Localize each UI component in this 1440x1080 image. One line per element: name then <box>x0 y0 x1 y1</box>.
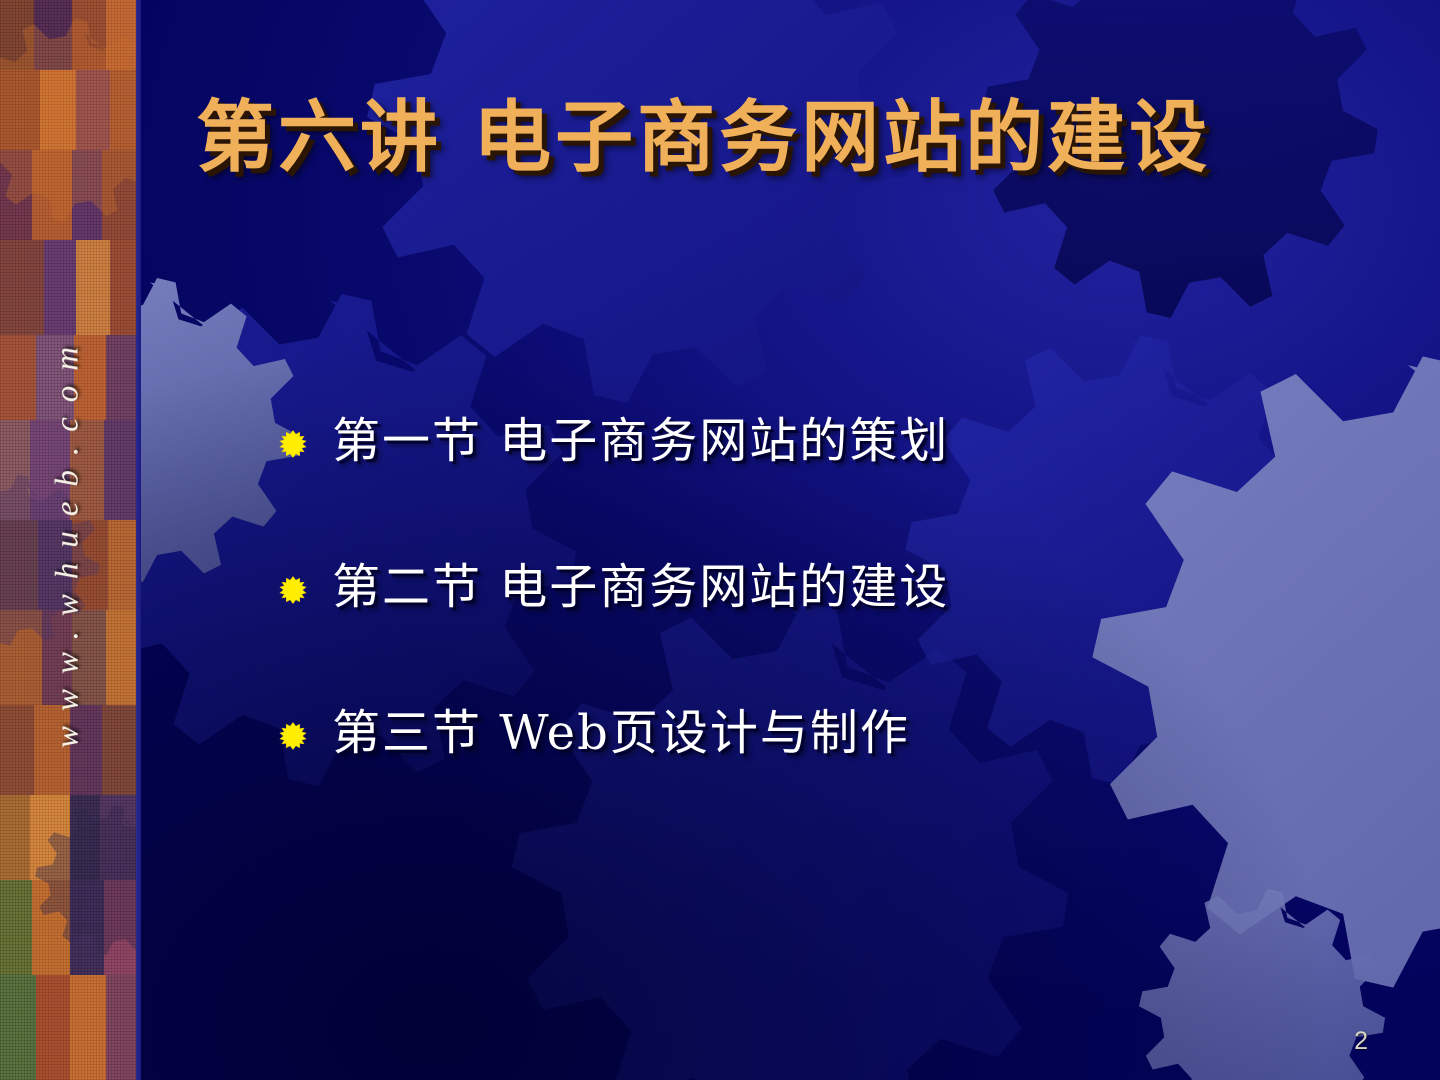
sunburst-star-icon <box>278 721 308 751</box>
list-item-label: 第二节 电子商务网站的建设 <box>332 563 949 611</box>
mosaic-grain-overlay <box>0 0 136 1080</box>
bullet-list: 第一节 电子商务网站的策划 第二节 电子商务网站的建设 第三节 Web页设计与制… <box>278 398 1368 776</box>
left-texture-strip: www.whueb.com <box>0 0 136 1080</box>
sunburst-star-icon <box>278 429 308 459</box>
page-number: 2 <box>1354 1027 1368 1056</box>
list-item-label: 第三节 Web页设计与制作 <box>332 709 910 757</box>
presentation-slide: www.whueb.com 第六讲 电子商务网站的建设 第一节 电子商务网站的策… <box>0 0 1440 1080</box>
list-item[interactable]: 第二节 电子商务网站的建设 <box>278 544 1368 630</box>
sunburst-star-icon <box>278 575 308 605</box>
list-item-label: 第一节 电子商务网站的策划 <box>332 417 949 465</box>
list-item[interactable]: 第一节 电子商务网站的策划 <box>278 398 1368 484</box>
strip-edge-divider <box>136 0 141 1080</box>
slide-title: 第六讲 电子商务网站的建设 <box>196 96 1376 180</box>
list-item[interactable]: 第三节 Web页设计与制作 <box>278 690 1368 776</box>
